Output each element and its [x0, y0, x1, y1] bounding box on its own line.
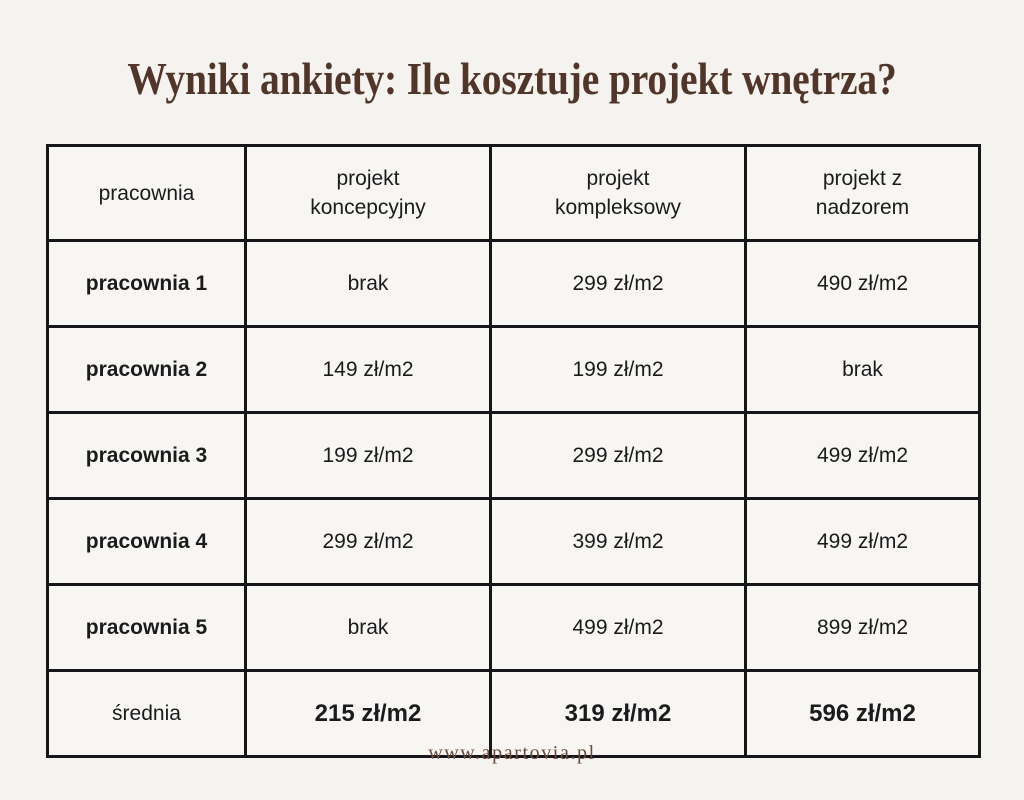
- cell-koncepcyjny: 199 zł/m2: [246, 413, 491, 499]
- column-header-kompleksowy-line-1: projekt: [586, 167, 649, 190]
- cell-kompleksowy: 499 zł/m2: [491, 585, 746, 671]
- column-header-nadzor-line-2: nadzorem: [816, 196, 909, 219]
- cell-koncepcyjny: 149 zł/m2: [246, 327, 491, 413]
- cell-kompleksowy: 299 zł/m2: [491, 241, 746, 327]
- cell-kompleksowy: 399 zł/m2: [491, 499, 746, 585]
- cell-studio: pracownia 4: [48, 499, 246, 585]
- cell-nadzor: 499 zł/m2: [746, 413, 980, 499]
- cell-studio: pracownia 1: [48, 241, 246, 327]
- column-header-nadzor-line-1: projekt z: [823, 167, 902, 190]
- table-row: pracownia 3 199 zł/m2 299 zł/m2 499 zł/m…: [48, 413, 980, 499]
- cell-kompleksowy: 299 zł/m2: [491, 413, 746, 499]
- column-header-pracownia: pracownia: [48, 146, 246, 241]
- cell-studio: pracownia 5: [48, 585, 246, 671]
- table-row: pracownia 1 brak 299 zł/m2 490 zł/m2: [48, 241, 980, 327]
- table-header-row: pracownia projekt koncepcyjny projekt ko…: [48, 146, 980, 241]
- column-header-kompleksowy-line-2: kompleksowy: [555, 196, 681, 219]
- column-header-nadzor: projekt z nadzorem: [746, 146, 980, 241]
- column-header-koncepcyjny-line-1: projekt: [336, 167, 399, 190]
- table-row: pracownia 2 149 zł/m2 199 zł/m2 brak: [48, 327, 980, 413]
- column-header-koncepcyjny-line-2: koncepcyjny: [310, 196, 426, 219]
- cell-kompleksowy: 199 zł/m2: [491, 327, 746, 413]
- column-header-koncepcyjny: projekt koncepcyjny: [246, 146, 491, 241]
- survey-table: pracownia projekt koncepcyjny projekt ko…: [46, 144, 981, 758]
- cell-koncepcyjny: brak: [246, 585, 491, 671]
- cell-koncepcyjny: brak: [246, 241, 491, 327]
- cell-nadzor: 899 zł/m2: [746, 585, 980, 671]
- table-row: pracownia 4 299 zł/m2 399 zł/m2 499 zł/m…: [48, 499, 980, 585]
- cell-nadzor: brak: [746, 327, 980, 413]
- survey-table-container: pracownia projekt koncepcyjny projekt ko…: [46, 144, 978, 706]
- cell-nadzor: 490 zł/m2: [746, 241, 980, 327]
- table-row: pracownia 5 brak 499 zł/m2 899 zł/m2: [48, 585, 980, 671]
- cell-studio: pracownia 2: [48, 327, 246, 413]
- page-title: Wyniki ankiety: Ile kosztuje projekt wnę…: [72, 48, 953, 110]
- column-header-kompleksowy: projekt kompleksowy: [491, 146, 746, 241]
- site-url-footer: www.apartovia.pl: [0, 742, 1024, 765]
- column-header-pracownia-line-1: pracownia: [99, 182, 195, 205]
- cell-nadzor: 499 zł/m2: [746, 499, 980, 585]
- cell-studio: pracownia 3: [48, 413, 246, 499]
- cell-koncepcyjny: 299 zł/m2: [246, 499, 491, 585]
